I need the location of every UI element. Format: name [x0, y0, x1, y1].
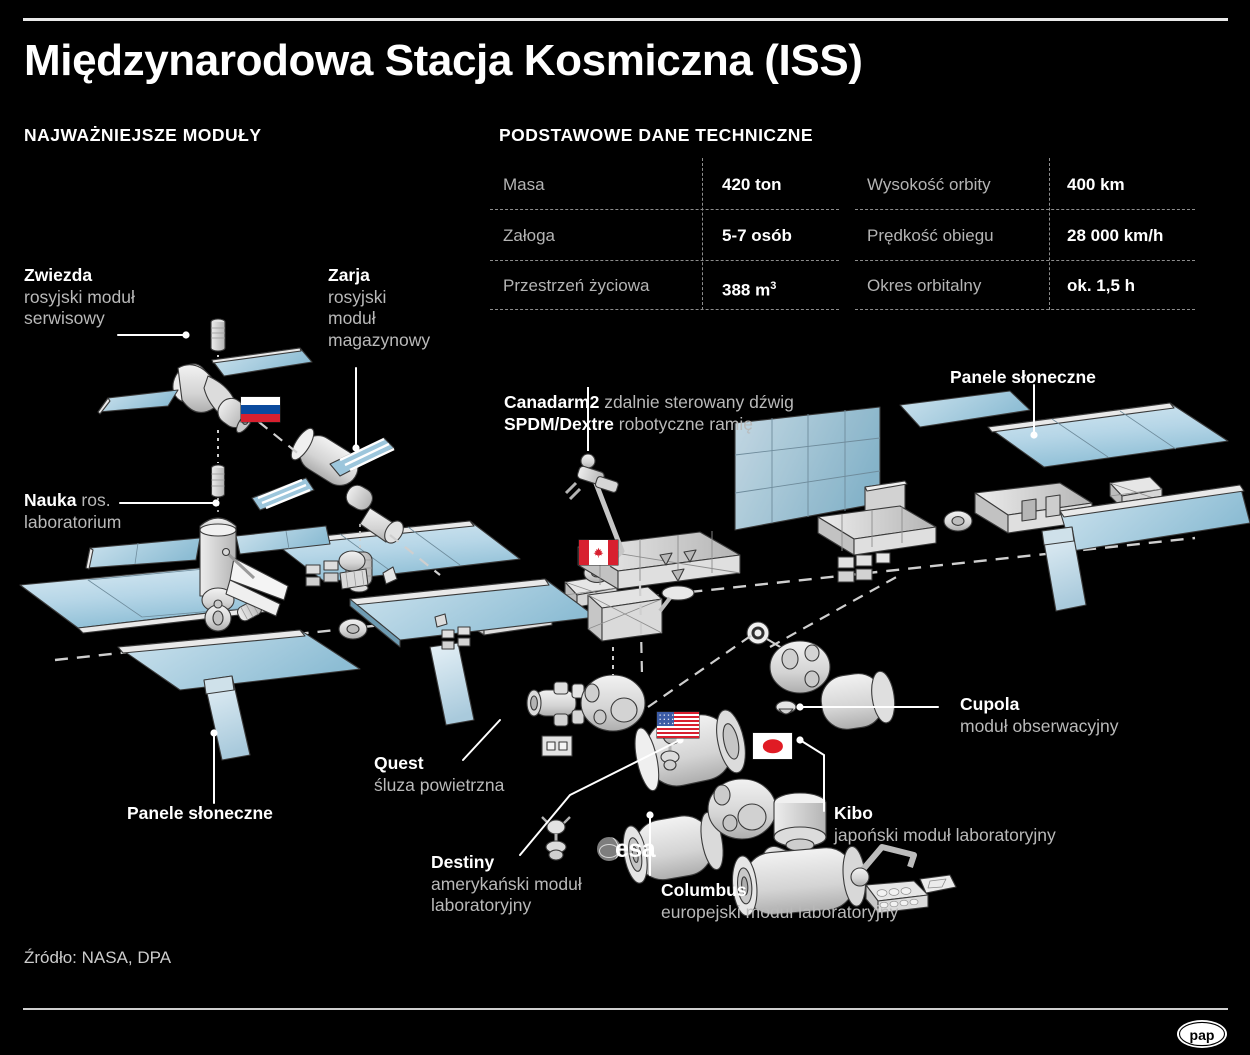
bottom-divider: [23, 1008, 1228, 1010]
esa-logo: esa: [597, 835, 683, 863]
maple-leaf-icon: [593, 544, 604, 561]
annotation-spdm-desc: robotyczne ramię: [619, 414, 753, 434]
annotation-canadarm-desc: zdalnie sterowany dźwig: [604, 392, 794, 412]
annotation-canadarm-name: Canadarm2: [504, 392, 599, 412]
annotation-quest-desc1: śluza powietrzna: [374, 775, 504, 795]
spec-key: Prędkość obiegu: [867, 226, 994, 246]
annotation-columbus-name: Columbus: [661, 880, 747, 900]
annotation-quest: Quest śluza powietrzna: [374, 753, 504, 796]
spec-hline: [490, 209, 839, 210]
annotation-destiny-name: Destiny: [431, 852, 494, 872]
pap-logo-text: pap: [1190, 1027, 1215, 1043]
annotation-zarja: Zarja rosyjski moduł magazynowy: [328, 265, 430, 351]
pap-logo: pap: [1176, 1019, 1228, 1049]
annotation-nauka-desc1: ros.: [81, 490, 110, 510]
annotation-nauka: Nauka ros. laboratorium: [24, 490, 121, 533]
spec-hline: [855, 209, 1195, 210]
annotation-destiny: Destiny amerykański moduł laboratoryjny: [431, 852, 582, 917]
esa-wordmark: esa: [615, 835, 655, 863]
spec-value: 420 ton: [722, 175, 782, 195]
section-heading-specs: PODSTAWOWE DANE TECHNICZNE: [499, 125, 813, 146]
annotation-nauka-name: Nauka: [24, 490, 77, 510]
annotation-spdm-name: SPDM/Dextre: [504, 414, 614, 434]
spec-key: Wysokość orbity: [867, 175, 991, 195]
top-divider: [23, 18, 1228, 21]
flag-japan-icon: [753, 733, 792, 759]
spec-value: 28 000 km/h: [1067, 226, 1163, 246]
flag-russia-icon: [241, 397, 280, 422]
annotation-kibo-name: Kibo: [834, 803, 873, 823]
annotation-quest-name: Quest: [374, 753, 424, 773]
annotation-panels-left: Panele słoneczne: [127, 803, 273, 825]
annotation-columbus: Columbus europejski moduł laboratoryjny: [661, 880, 898, 923]
annotation-cupola-name: Cupola: [960, 694, 1019, 714]
annotation-nauka-desc2: laboratorium: [24, 512, 121, 532]
annotation-panels-right: Panele słoneczne: [950, 367, 1096, 389]
annotation-zwiezda: Zwiezda rosyjski moduł serwisowy: [24, 265, 135, 330]
annotation-zarja-desc3: magazynowy: [328, 330, 430, 350]
spec-key: Załoga: [503, 226, 555, 246]
section-heading-modules: NAJWAŻNIEJSZE MODUŁY: [24, 125, 262, 146]
spec-value: 5-7 osób: [722, 226, 792, 246]
flag-canada-icon: [579, 540, 618, 565]
page-title: Międzynarodowa Stacja Kosmiczna (ISS): [24, 36, 1124, 86]
annotation-canadarm: Canadarm2 zdalnie sterowany dźwig SPDM/D…: [504, 392, 794, 435]
spec-key: Masa: [503, 175, 545, 195]
annotation-kibo-desc1: japoński moduł laboratoryjny: [834, 825, 1056, 845]
infographic-root: Międzynarodowa Stacja Kosmiczna (ISS) NA…: [0, 0, 1250, 1055]
annotation-destiny-desc2: laboratoryjny: [431, 895, 531, 915]
annotation-zarja-name: Zarja: [328, 265, 370, 285]
flag-usa-icon: [657, 712, 699, 738]
annotation-zarja-desc2: moduł: [328, 308, 376, 328]
annotation-columbus-desc1: europejski moduł laboratoryjny: [661, 902, 898, 922]
annotation-zwiezda-name: Zwiezda: [24, 265, 92, 285]
source-note: Źródło: NASA, DPA: [24, 948, 171, 968]
spec-value: 400 km: [1067, 175, 1125, 195]
annotation-zwiezda-desc1: rosyjski moduł: [24, 287, 135, 307]
annotation-cupola: Cupola moduł obserwacyjny: [960, 694, 1119, 737]
annotation-zarja-desc1: rosyjski: [328, 287, 386, 307]
annotation-zwiezda-desc2: serwisowy: [24, 308, 105, 328]
annotation-cupola-desc1: moduł obserwacyjny: [960, 716, 1119, 736]
annotation-kibo: Kibo japoński moduł laboratoryjny: [834, 803, 1056, 846]
annotation-destiny-desc1: amerykański moduł: [431, 874, 582, 894]
